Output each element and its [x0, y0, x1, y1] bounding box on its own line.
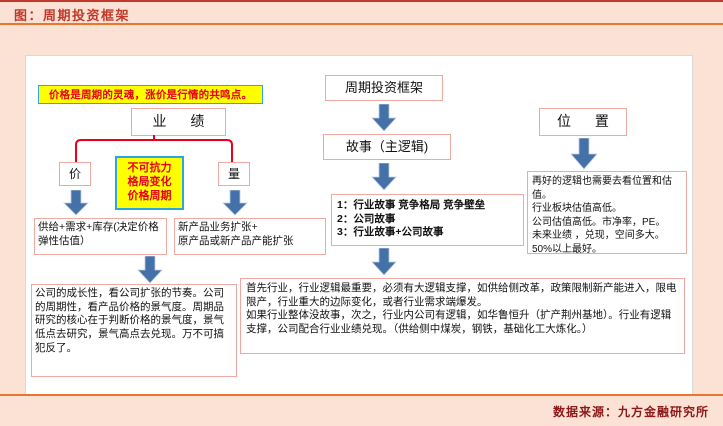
force-line-1: 不可抗力	[128, 162, 172, 176]
diagram-canvas: 价格是周期的灵魂，涨价是行情的共鸣点。 周期投资框架 业 绩 故事（主逻辑) 位…	[25, 55, 693, 412]
arrow-volume-down	[222, 190, 248, 216]
root-node: 周期投资框架	[325, 75, 443, 101]
arrow-position-down	[570, 138, 598, 170]
arrow-performance-summary	[137, 256, 163, 284]
force-line-2: 格局变化	[128, 176, 172, 190]
figure-footer-bar: 数据来源：九方金融研究所	[0, 394, 723, 426]
figure-title-bar: 图：周期投资框架	[0, 0, 723, 25]
arrow-root-to-story	[371, 104, 397, 132]
column-header-performance: 业 绩	[131, 108, 226, 136]
page-title: 图：周期投资框架	[14, 5, 130, 24]
column-header-story: 故事（主逻辑)	[323, 134, 451, 160]
detail-price: 供给+需求+库存(决定价格弹性估值）	[34, 218, 167, 255]
arrow-story-to-detail	[371, 248, 397, 276]
detail-story: 首先行业，行业逻辑最重要，必须有大逻辑支撑，如供给侧改革，政策限制新产能进入，限…	[240, 278, 685, 354]
column-header-position: 位 置	[539, 108, 627, 136]
figure-page: 图：周期投资框架 价格是周期的灵魂，涨价是行情的共鸣点。 周期投资框架 业 绩 …	[0, 0, 723, 426]
story-list-item-3: 3：行业故事+公司故事	[337, 226, 518, 240]
highlight-banner: 价格是周期的灵魂，涨价是行情的共鸣点。	[38, 85, 263, 104]
node-price: 价	[59, 162, 91, 186]
data-source-label: 数据来源：九方金融研究所	[553, 403, 709, 420]
story-list-item-1: 1：行业故事 竞争格局 竞争壁垒	[337, 199, 518, 213]
figure-frame: 价格是周期的灵魂，涨价是行情的共鸣点。 周期投资框架 业 绩 故事（主逻辑) 位…	[0, 25, 723, 394]
detail-position: 再好的逻辑也需要去看位置和估值。 行业板块估值高低。 公司估值高低。市净率，PE…	[527, 171, 687, 254]
force-line-3: 价格周期	[128, 190, 172, 204]
summary-performance: 公司的成长性，看公司扩张的节奏。公司的周期性，看产品价格的景气度。周期品研究的核…	[31, 284, 237, 377]
story-list-item-2: 2：公司故事	[337, 213, 518, 227]
force-majeure-box: 不可抗力 格局变化 价格周期	[115, 156, 184, 210]
story-list: 1：行业故事 竞争格局 竞争壁垒 2：公司故事 3：行业故事+公司故事	[331, 194, 524, 246]
arrow-story-to-list	[371, 163, 397, 191]
arrow-price-down	[63, 190, 89, 216]
node-volume: 量	[218, 162, 250, 186]
detail-volume: 新产品业务扩张+ 原产品或新产品产能扩张	[174, 218, 326, 255]
